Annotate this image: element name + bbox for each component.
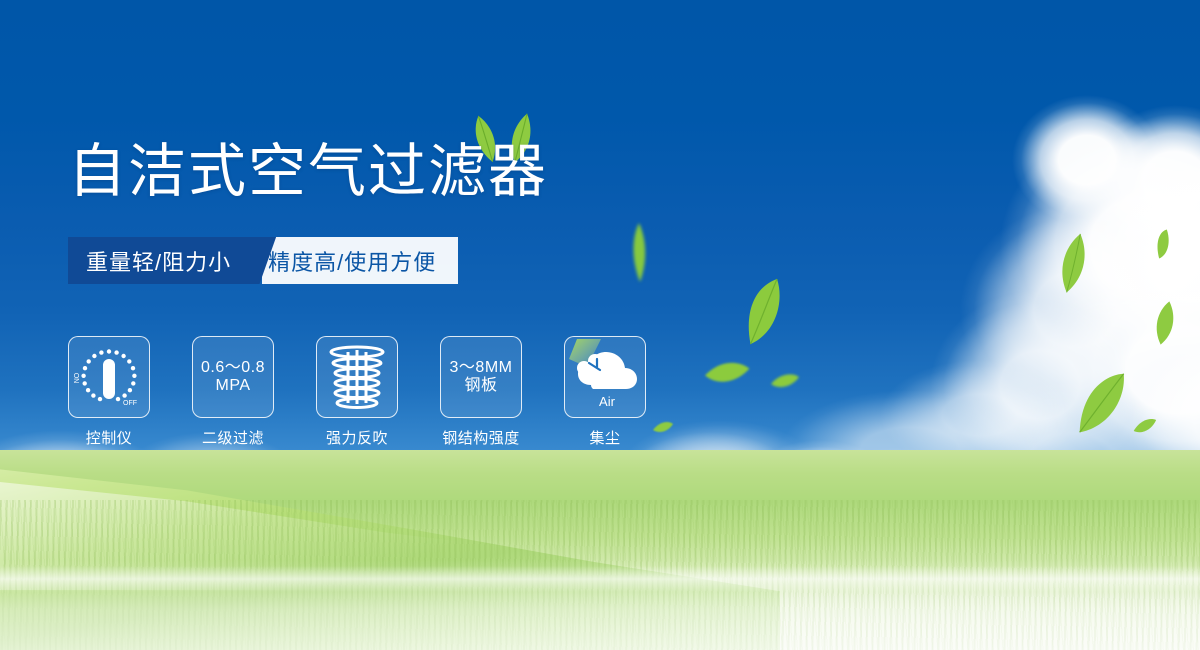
hero-banner: 自洁式空气过滤器 重量轻/阻力小 精度高/使用方便 (0, 0, 1200, 650)
feature-item-control-dial[interactable]: NO OFF 控制仪 (68, 336, 150, 448)
svg-text:OFF: OFF (123, 400, 137, 407)
pressure-text-icon: 0.6～0.8 MPA (201, 359, 265, 396)
filter-coil-icon (326, 344, 388, 410)
feature-label: 钢结构强度 (442, 427, 520, 448)
air-cloud-icon: Air (567, 337, 645, 415)
feature-label: 集尘 (589, 427, 620, 448)
page-title: 自洁式空气过滤器 (68, 143, 548, 201)
feature-label: 二级过滤 (202, 427, 264, 448)
pressure-line-1: 0.6～0.8 (201, 359, 265, 377)
subtitle-right-text: 精度高/使用方便 (268, 245, 436, 277)
feature-icon-box (316, 336, 398, 418)
feature-list: NO OFF 控制仪 0.6～0.8 MPA 二级过滤 (68, 336, 646, 448)
feature-icon-box: 3～8MM 钢板 (440, 336, 522, 418)
feature-label: 强力反吹 (326, 427, 388, 448)
steel-line-2: 钢板 (450, 377, 513, 395)
feature-label: 控制仪 (86, 427, 133, 448)
steel-plate-text-icon: 3～8MM 钢板 (450, 359, 513, 396)
feature-item-dust-collection[interactable]: Air 集尘 (564, 336, 646, 448)
pressure-line-2: MPA (201, 377, 265, 395)
feature-item-pressure[interactable]: 0.6～0.8 MPA 二级过滤 (192, 336, 274, 448)
svg-text:NO: NO (74, 372, 81, 383)
feature-item-steel[interactable]: 3～8MM 钢板 钢结构强度 (440, 336, 522, 448)
feature-item-backblow[interactable]: 强力反吹 (316, 336, 398, 448)
subtitle-bar: 重量轻/阻力小 精度高/使用方便 (68, 237, 458, 284)
feature-icon-box: 0.6～0.8 MPA (192, 336, 274, 418)
feature-icon-box: NO OFF (68, 336, 150, 418)
feature-icon-box: Air (564, 336, 646, 418)
air-label: Air (599, 394, 616, 409)
subtitle-right-panel: 精度高/使用方便 (262, 237, 458, 284)
subtitle-left-panel: 重量轻/阻力小 (68, 237, 251, 284)
dial-gauge-icon: NO OFF (73, 341, 145, 413)
steel-line-1: 3～8MM (450, 359, 513, 377)
subtitle-left-text: 重量轻/阻力小 (86, 245, 231, 277)
